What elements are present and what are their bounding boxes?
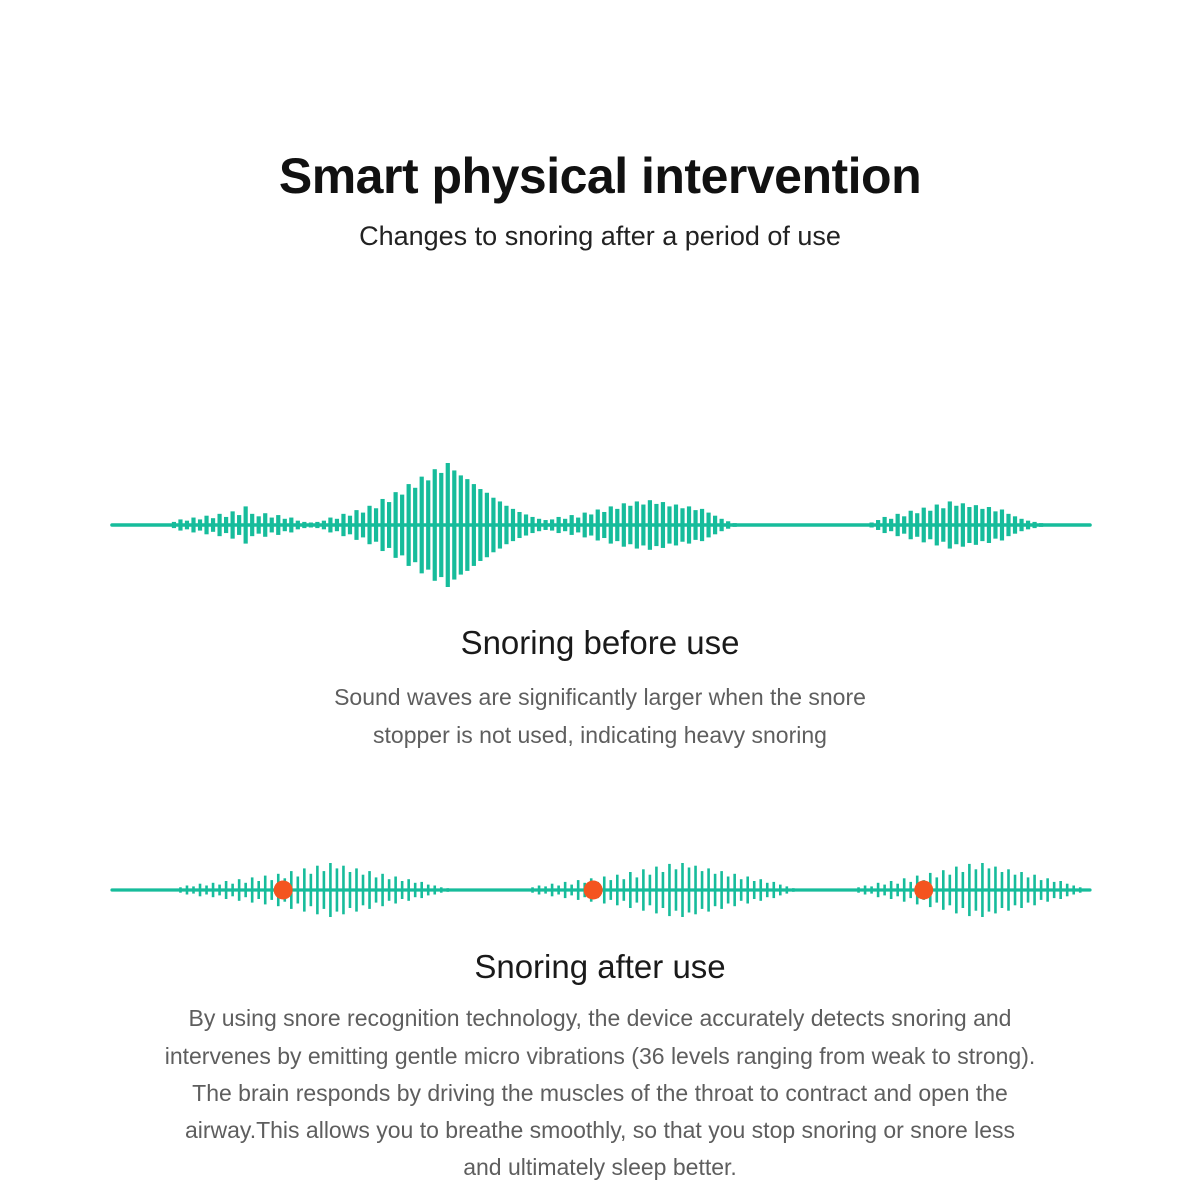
- waveform-bar: [302, 522, 306, 528]
- waveform-bar: [349, 872, 352, 908]
- waveform-bar: [877, 883, 880, 897]
- waveform-bar: [570, 885, 573, 896]
- waveform-bar: [622, 503, 626, 546]
- waveform-bar: [198, 519, 202, 530]
- waveform-bar: [707, 868, 710, 911]
- waveform-bar: [903, 878, 906, 901]
- waveform-bar: [589, 514, 593, 535]
- waveform-bar: [935, 505, 939, 546]
- waveform-bar: [876, 520, 880, 530]
- waveform-bar: [440, 887, 443, 892]
- waveform-bar: [251, 877, 254, 902]
- waveform-bar: [204, 516, 208, 535]
- waveform-bar: [172, 522, 176, 528]
- waveform-bar: [303, 868, 306, 911]
- section-after-title: Snoring after use: [0, 946, 1200, 987]
- waveform-bar: [238, 879, 241, 901]
- waveform-bar: [355, 868, 358, 911]
- waveform-bar: [577, 880, 580, 900]
- waveform-bar: [530, 517, 534, 533]
- waveform-bar: [335, 519, 339, 531]
- page-title: Smart physical intervention: [0, 148, 1200, 204]
- waveform-bar: [231, 511, 235, 538]
- waveform-bar: [694, 866, 697, 915]
- waveform-bar: [909, 882, 912, 898]
- waveform-bar: [244, 506, 248, 543]
- waveform-bar: [961, 503, 965, 546]
- waveform-bar: [883, 885, 886, 896]
- waveform-bar: [1040, 880, 1043, 900]
- waveform-bar: [654, 504, 658, 546]
- waveform-bar: [857, 887, 860, 892]
- waveform-bar: [400, 495, 404, 556]
- waveform-bar: [368, 871, 371, 909]
- waveform-before-use: [0, 430, 1200, 620]
- waveform-bar: [498, 501, 502, 548]
- waveform-bar: [1032, 522, 1036, 528]
- waveform-bar: [178, 519, 182, 530]
- waveform-bar: [993, 511, 997, 538]
- waveform-bar: [328, 518, 332, 533]
- waveform-bar: [315, 522, 319, 528]
- waveform-bar: [348, 516, 352, 535]
- waveform-bar: [1046, 524, 1050, 526]
- waveform-bar: [662, 872, 665, 908]
- waveform-bar: [942, 870, 945, 910]
- waveform-bar: [941, 508, 945, 541]
- waveform-bar: [994, 867, 997, 914]
- waveform-bar: [981, 863, 984, 917]
- waveform-bar: [309, 523, 313, 528]
- waveform-bar: [413, 488, 417, 562]
- waveform-bar: [987, 507, 991, 543]
- waveform-bar: [472, 484, 476, 566]
- waveform-bar: [517, 512, 521, 538]
- waveform-bar: [615, 509, 619, 541]
- waveform-bar: [459, 475, 463, 574]
- waveform-bar: [264, 876, 267, 905]
- vibration-trigger-marker-icon: [914, 881, 933, 900]
- waveform-bar: [367, 506, 371, 544]
- waveform-bar: [968, 864, 971, 916]
- waveform-bar: [687, 506, 691, 543]
- waveform-bar: [740, 879, 743, 901]
- waveform-bar: [414, 883, 417, 897]
- waveform-bar: [564, 882, 567, 898]
- waveform-bar: [596, 510, 600, 541]
- waveform-bar: [276, 515, 280, 535]
- page-root: Smart physical intervention Changes to s…: [0, 0, 1200, 1200]
- waveform-bar: [928, 511, 932, 540]
- waveform-bar: [557, 517, 561, 533]
- waveform-bar: [667, 506, 671, 543]
- waveform-bar: [609, 506, 613, 543]
- waveform-bar: [1072, 886, 1075, 895]
- waveform-bar: [701, 871, 704, 909]
- waveform-bar: [642, 869, 645, 910]
- waveform-bar: [779, 885, 782, 896]
- waveform-bar: [354, 510, 358, 540]
- waveform-bar: [394, 492, 398, 558]
- waveform-bar: [465, 479, 469, 571]
- waveform-bar: [212, 883, 215, 897]
- waveform-bar: [713, 516, 717, 535]
- waveform-bar: [869, 523, 873, 528]
- waveform-bar: [316, 866, 319, 915]
- waveform-bar: [218, 885, 221, 896]
- waveform-bar: [636, 877, 639, 902]
- waveform-bar: [922, 508, 926, 543]
- waveform-bar: [310, 874, 313, 906]
- waveform-bar: [609, 880, 612, 900]
- waveform-bar: [772, 882, 775, 898]
- waveform-bar: [1059, 881, 1062, 899]
- waveform-bar: [896, 884, 899, 897]
- waveform-bar: [675, 869, 678, 910]
- waveform-bar: [289, 518, 293, 533]
- waveform-bar: [576, 518, 580, 533]
- waveform-bar: [427, 885, 430, 896]
- waveform-bar: [726, 521, 730, 528]
- waveform-bar: [257, 881, 260, 899]
- waveform-after-use: [0, 848, 1200, 932]
- waveform-bar: [688, 868, 691, 913]
- waveform-bar: [988, 868, 991, 911]
- waveform-bar: [537, 519, 541, 531]
- waveform-bar: [883, 517, 887, 533]
- waveform-before-use-chart: [0, 430, 1200, 620]
- waveform-bar: [635, 501, 639, 548]
- waveform-bar: [179, 887, 182, 892]
- waveform-bar: [1001, 872, 1004, 908]
- waveform-bar: [186, 886, 189, 895]
- waveform-bar: [478, 489, 482, 561]
- waveform-bar: [538, 886, 541, 895]
- waveform-bar: [603, 877, 606, 904]
- waveform-bar: [433, 886, 436, 895]
- waveform-bar: [297, 877, 300, 904]
- waveform-bar: [446, 888, 449, 892]
- waveform-bar: [485, 493, 489, 557]
- waveform-bar: [192, 886, 195, 893]
- waveform-bar: [387, 502, 391, 548]
- waveform-bar: [714, 874, 717, 906]
- waveform-bar: [380, 499, 384, 551]
- waveform-bar: [1000, 510, 1004, 541]
- waveform-bar: [420, 477, 424, 574]
- waveform-bar: [915, 513, 919, 537]
- waveform-bar: [217, 514, 221, 536]
- waveform-bar: [975, 869, 978, 910]
- waveform-bar: [661, 502, 665, 548]
- waveform-bar: [375, 877, 378, 902]
- waveform-bar: [681, 863, 684, 917]
- waveform-bar: [557, 886, 560, 895]
- waveform-bar: [720, 871, 723, 909]
- waveform-bar: [1046, 878, 1049, 901]
- waveform-bar: [407, 484, 411, 566]
- waveform-bar: [341, 514, 345, 536]
- waveform-bar: [629, 872, 632, 908]
- waveform-bar: [628, 506, 632, 544]
- waveform-bar: [1066, 884, 1069, 897]
- waveform-bar: [257, 516, 261, 533]
- waveform-bar: [394, 877, 397, 904]
- waveform-bar: [543, 520, 547, 530]
- section-after-use: Snoring after use By using snore recogni…: [0, 946, 1200, 1187]
- waveform-bar: [283, 519, 287, 531]
- waveform-bar: [648, 500, 652, 550]
- waveform-bar: [336, 868, 339, 911]
- waveform-bar: [623, 879, 626, 901]
- waveform-bar: [191, 518, 195, 533]
- waveform-bar: [655, 867, 658, 914]
- waveform-bar: [786, 886, 789, 893]
- waveform-bar: [641, 505, 645, 546]
- waveform-after-use-chart: [0, 848, 1200, 932]
- waveform-bar: [980, 509, 984, 541]
- waveform-bar: [1013, 516, 1017, 533]
- section-before-description: Sound waves are significantly larger whe…: [220, 679, 980, 754]
- waveform-bar: [693, 510, 697, 540]
- waveform-bar: [700, 509, 704, 541]
- waveform-bar: [531, 887, 534, 892]
- waveform-bar: [362, 875, 365, 906]
- waveform-bar: [902, 516, 906, 533]
- page-subtitle: Changes to snoring after a period of use: [0, 220, 1200, 252]
- waveform-bar: [949, 875, 952, 906]
- waveform-bar: [225, 881, 228, 899]
- waveform-bar: [616, 875, 619, 906]
- waveform-bar: [491, 498, 495, 553]
- section-before-use: Snoring before use Sound waves are signi…: [0, 622, 1200, 754]
- waveform-bar: [1033, 875, 1036, 906]
- waveform-bar: [504, 506, 508, 544]
- waveform-bar: [889, 519, 893, 531]
- waveform-bar: [342, 866, 345, 915]
- waveform-bar: [323, 871, 326, 909]
- waveform-bar: [224, 517, 228, 533]
- waveform-bar: [896, 514, 900, 536]
- waveform-bar: [1079, 887, 1082, 892]
- waveform-bar: [205, 886, 208, 895]
- waveform-bar: [909, 511, 913, 540]
- waveform-bar: [759, 879, 762, 901]
- waveform-bar: [870, 886, 873, 893]
- waveform-bar: [864, 886, 867, 895]
- waveform-bar: [511, 509, 515, 541]
- waveform-bar: [680, 508, 684, 541]
- waveform-bar: [727, 877, 730, 904]
- waveform-bar: [551, 884, 554, 897]
- waveform-bar: [426, 480, 430, 569]
- waveform-bar: [674, 505, 678, 546]
- waveform-bar: [962, 872, 965, 908]
- waveform-bar: [570, 515, 574, 535]
- waveform-bar: [388, 879, 391, 901]
- waveform-bar: [602, 512, 606, 538]
- waveform-bar: [270, 880, 273, 900]
- waveform-bar: [1027, 877, 1030, 902]
- waveform-bar: [948, 501, 952, 548]
- waveform-bar: [1039, 523, 1043, 527]
- vibration-trigger-marker-icon: [274, 881, 293, 900]
- section-before-title: Snoring before use: [0, 622, 1200, 663]
- waveform-bar: [544, 886, 547, 893]
- waveform-bar: [792, 888, 795, 892]
- waveform-bar: [446, 463, 450, 587]
- waveform-bar: [1053, 882, 1056, 898]
- waveform-bar: [550, 519, 554, 530]
- waveform-bar: [270, 518, 274, 533]
- waveform-bar: [401, 881, 404, 899]
- waveform-bar: [1006, 514, 1010, 536]
- waveform-bar: [524, 514, 528, 535]
- waveform-bar: [706, 513, 710, 538]
- waveform-bar: [237, 515, 241, 535]
- waveform-bar: [935, 877, 938, 902]
- waveform-bar: [211, 518, 215, 532]
- waveform-bar: [668, 864, 671, 916]
- waveform-bar: [199, 884, 202, 897]
- waveform-bar: [1019, 519, 1023, 531]
- waveform-bar: [563, 519, 567, 531]
- waveform-bar: [244, 883, 247, 897]
- waveform-bar: [361, 513, 365, 538]
- waveform-bar: [733, 874, 736, 906]
- waveform-bar: [185, 521, 189, 530]
- vibration-trigger-marker-icon: [584, 881, 603, 900]
- waveform-bar: [420, 882, 423, 898]
- section-after-description: By using snore recognition technology, t…: [50, 1000, 1150, 1186]
- waveform-bar: [322, 521, 326, 530]
- waveform-bar: [583, 513, 587, 538]
- header: Smart physical intervention Changes to s…: [0, 148, 1200, 252]
- waveform-bar: [967, 507, 971, 543]
- waveform-bar: [407, 879, 410, 901]
- waveform-bar: [439, 473, 443, 577]
- waveform-bar: [746, 877, 749, 904]
- waveform-bar: [1014, 875, 1017, 906]
- waveform-bar: [649, 875, 652, 906]
- waveform-bar: [381, 874, 384, 906]
- waveform-bar: [374, 508, 378, 541]
- waveform-bar: [955, 867, 958, 914]
- waveform-bar: [250, 514, 254, 536]
- waveform-bar: [720, 519, 724, 531]
- waveform-bar: [433, 469, 437, 581]
- waveform-bar: [974, 505, 978, 545]
- waveform-bar: [452, 470, 456, 579]
- waveform-bar: [766, 883, 769, 897]
- waveform-bar: [296, 521, 300, 530]
- waveform-bar: [890, 881, 893, 899]
- waveform-bar: [954, 506, 958, 544]
- waveform-bar: [733, 523, 737, 527]
- waveform-bar: [263, 513, 267, 537]
- waveform-bar: [1026, 521, 1030, 530]
- waveform-bar: [1007, 869, 1010, 910]
- waveform-bar: [1020, 872, 1023, 908]
- waveform-bar: [231, 884, 234, 897]
- waveform-bar: [329, 863, 332, 917]
- waveform-bar: [753, 881, 756, 899]
